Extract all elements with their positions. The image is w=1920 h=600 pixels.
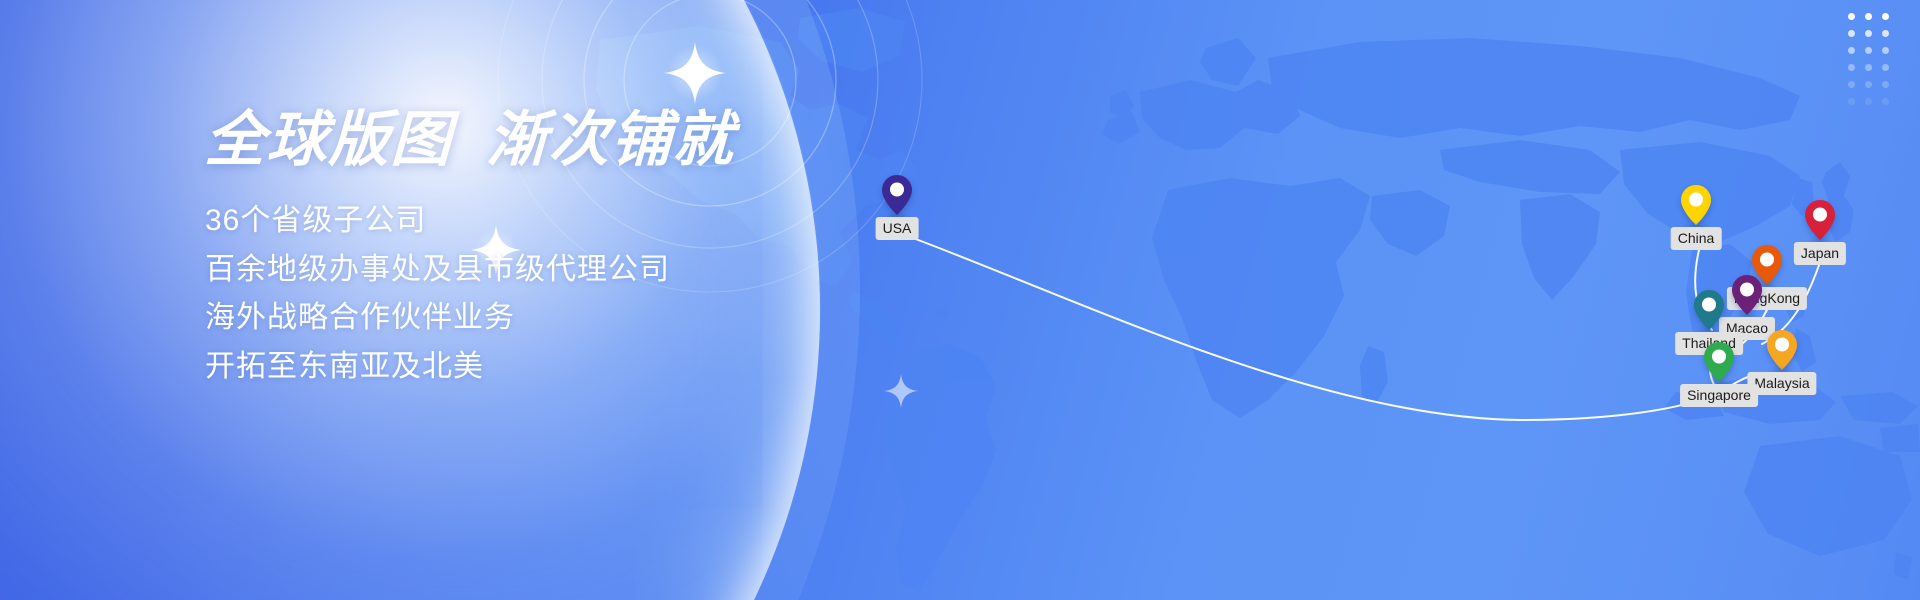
global-map-banner: USAChinaJapanHongKongMacaoThailandMalays… [0, 0, 1920, 600]
subtext-line-2: 百余地级办事处及县市级代理公司 [205, 246, 965, 295]
map-pin-icon [1767, 330, 1797, 370]
map-marker-label: China [1671, 227, 1722, 250]
banner-subtext: 36个省级子公司 百余地级办事处及县市级代理公司 海外战略合作伙伴业务 开拓至东… [205, 197, 965, 391]
map-marker-singapore[interactable]: Singapore [1704, 342, 1734, 382]
map-marker-thailand[interactable]: Thailand [1694, 290, 1724, 330]
map-marker-label: Singapore [1680, 384, 1758, 407]
map-marker-macao[interactable]: Macao [1732, 275, 1762, 315]
map-pin-icon [1681, 185, 1711, 225]
map-pin-icon [1704, 342, 1734, 382]
map-pin-icon [1805, 200, 1835, 240]
page-title: 全球版图渐次铺就 [204, 108, 966, 171]
dot-grid-decoration [1843, 8, 1894, 110]
banner-copy: 全球版图渐次铺就 36个省级子公司 百余地级办事处及县市级代理公司 海外战略合作… [205, 108, 965, 391]
map-marker-malaysia[interactable]: Malaysia [1767, 330, 1797, 370]
subtext-line-1: 36个省级子公司 [205, 197, 965, 246]
subtext-line-3: 海外战略合作伙伴业务 [205, 294, 965, 343]
map-marker-japan[interactable]: Japan [1805, 200, 1835, 240]
headline-part-1: 全球版图 [204, 106, 454, 173]
headline-part-2: 渐次铺就 [486, 106, 736, 173]
subtext-line-4: 开拓至东南亚及北美 [205, 343, 965, 392]
map-marker-label: Japan [1794, 242, 1846, 265]
map-pin-icon [1732, 275, 1762, 315]
map-pin-icon [1694, 290, 1724, 330]
map-marker-china[interactable]: China [1681, 185, 1711, 225]
